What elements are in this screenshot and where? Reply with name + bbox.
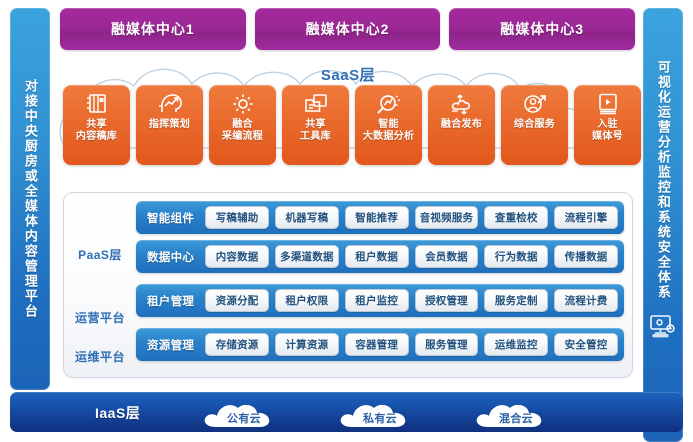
paas-row-tenant-management: 租户管理 资源分配 租户权限 租户监控 授权管理 服务定制 流程计费 xyxy=(136,284,624,317)
right-sidebar-rail: 可视化运营分析监控和系统安全体系 xyxy=(643,8,683,442)
gear-icon xyxy=(230,91,256,117)
saas-tile-command-planning[interactable]: 指挥策划 xyxy=(136,85,203,165)
media-center-button-row: 融媒体中心1 融媒体中心2 融媒体中心3 xyxy=(60,8,635,50)
chip-item[interactable]: 运维监控 xyxy=(484,333,548,356)
chip-item[interactable]: 传播数据 xyxy=(554,245,618,268)
chip-item[interactable]: 租户权限 xyxy=(275,289,339,312)
person-arrow-icon xyxy=(522,91,548,117)
chip-item[interactable]: 租户监控 xyxy=(345,289,409,312)
cloud-arrows-icon xyxy=(449,91,475,117)
chip-item[interactable]: 智能推荐 xyxy=(345,206,409,229)
saas-layer: SaaS层 共享 内容稿库 xyxy=(58,52,638,170)
iaas-cloud-row: 公有云 私有云 混合云 xyxy=(200,395,660,429)
right-rail-label: 可视化运营分析监控和系统安全体系 xyxy=(656,60,670,300)
paas-panel: PaaS层 运营平台 运维平台 智能组件 写稿辅助 机器写稿 智能推荐 音视频服… xyxy=(63,192,633,378)
saas-tile-label: 指挥策划 xyxy=(149,119,190,131)
left-rail-label: 对接中央厨房或全媒体内容管理平台 xyxy=(23,79,37,319)
maintenance-platform-label: 运维平台 xyxy=(64,348,136,365)
iaas-cloud-hybrid[interactable]: 混合云 xyxy=(472,395,560,429)
left-sidebar-rail: 对接中央厨房或全媒体内容管理平台 xyxy=(10,8,50,390)
cloud-label: 私有云 xyxy=(336,410,424,426)
chip-item[interactable]: 资源分配 xyxy=(205,289,269,312)
saas-tile-media-account-onboarding[interactable]: 入驻 媒体号 xyxy=(574,85,641,165)
saas-tile-integrated-publishing[interactable]: 融合发布 xyxy=(428,85,495,165)
iaas-layer-label: IaaS层 xyxy=(95,403,140,423)
chip-item[interactable]: 流程计费 xyxy=(554,289,618,312)
paas-row-data-center: 数据中心 内容数据 多渠道数据 租户数据 会员数据 行为数据 传播数据 xyxy=(136,240,624,273)
paas-side-labels: PaaS层 运营平台 运维平台 xyxy=(64,193,136,377)
saas-tile-intelligent-bigdata-analysis[interactable]: 智能 大数据分析 xyxy=(355,85,422,165)
chip-item[interactable]: 安全管控 xyxy=(554,333,618,356)
row-title: 租户管理 xyxy=(142,293,199,309)
chip-item[interactable]: 授权管理 xyxy=(415,289,479,312)
document-archive-icon xyxy=(84,91,110,117)
chip-item[interactable]: 会员数据 xyxy=(415,245,479,268)
chip-item[interactable]: 容器管理 xyxy=(345,333,409,356)
paas-row-resource-management: 资源管理 存储资源 计算资源 容器管理 服务管理 运维监控 安全管控 xyxy=(136,328,624,361)
saas-layer-label: SaaS层 xyxy=(58,64,638,85)
chip-item[interactable]: 写稿辅助 xyxy=(205,206,269,229)
paas-row-intelligent-components: 智能组件 写稿辅助 机器写稿 智能推荐 音视频服务 查重检校 流程引擎 xyxy=(136,201,624,234)
play-book-icon xyxy=(595,91,621,117)
saas-tile-shared-toolkit[interactable]: 共享 工具库 xyxy=(282,85,349,165)
paas-layer-label: PaaS层 xyxy=(64,246,136,263)
chip-item[interactable]: 租户数据 xyxy=(345,245,409,268)
cloud-label: 公有云 xyxy=(200,410,288,426)
chip-item[interactable]: 查重检校 xyxy=(484,206,548,229)
iaas-cloud-private[interactable]: 私有云 xyxy=(336,395,424,429)
folder-windows-icon xyxy=(303,91,329,117)
row-title: 智能组件 xyxy=(142,210,199,226)
magnifier-chart-icon xyxy=(376,91,402,117)
saas-tile-label: 智能 大数据分析 xyxy=(363,119,415,143)
chip-item[interactable]: 服务管理 xyxy=(415,333,479,356)
saas-tile-label: 融合 采编流程 xyxy=(222,119,263,143)
saas-tile-label: 共享 工具库 xyxy=(300,119,331,143)
paas-row-list: 智能组件 写稿辅助 机器写稿 智能推荐 音视频服务 查重检校 流程引擎 数据中心… xyxy=(136,201,624,367)
chip-item[interactable]: 内容数据 xyxy=(205,245,269,268)
iaas-cloud-public[interactable]: 公有云 xyxy=(200,395,288,429)
cloud-label: 混合云 xyxy=(472,410,560,426)
saas-tile-label: 融合发布 xyxy=(441,119,482,131)
chip-item[interactable]: 多渠道数据 xyxy=(275,245,339,268)
operations-platform-label: 运营平台 xyxy=(64,309,136,326)
media-center-3-button[interactable]: 融媒体中心3 xyxy=(449,8,635,50)
chip-item[interactable]: 音视频服务 xyxy=(415,206,479,229)
chip-item[interactable]: 服务定制 xyxy=(484,289,548,312)
saas-tile-label: 综合服务 xyxy=(514,119,555,131)
iaas-layer-bar: IaaS层 公有云 私有云 混合云 xyxy=(10,392,683,432)
row-title: 资源管理 xyxy=(142,337,199,353)
media-center-1-button[interactable]: 融媒体中心1 xyxy=(60,8,246,50)
row-title: 数据中心 xyxy=(142,249,199,265)
architecture-diagram: 对接中央厨房或全媒体内容管理平台 可视化运营分析监控和系统安全体系 融媒体中心1… xyxy=(0,0,693,440)
chip-item[interactable]: 机器写稿 xyxy=(275,206,339,229)
saas-tile-label: 入驻 媒体号 xyxy=(592,119,623,143)
saas-tile-label: 共享 内容稿库 xyxy=(76,119,117,143)
saas-tile-shared-content-library[interactable]: 共享 内容稿库 xyxy=(63,85,130,165)
saas-tile-integrated-editorial-process[interactable]: 融合 采编流程 xyxy=(209,85,276,165)
chip-item[interactable]: 存储资源 xyxy=(205,333,269,356)
chip-item[interactable]: 计算资源 xyxy=(275,333,339,356)
chip-item[interactable]: 流程引擎 xyxy=(554,206,618,229)
chip-item[interactable]: 行为数据 xyxy=(484,245,548,268)
monitor-gear-icon xyxy=(649,314,677,345)
head-chart-icon xyxy=(157,91,183,117)
saas-tile-row: 共享 内容稿库 指挥策划 xyxy=(63,85,641,165)
media-center-2-button[interactable]: 融媒体中心2 xyxy=(255,8,441,50)
saas-tile-comprehensive-services[interactable]: 综合服务 xyxy=(501,85,568,165)
